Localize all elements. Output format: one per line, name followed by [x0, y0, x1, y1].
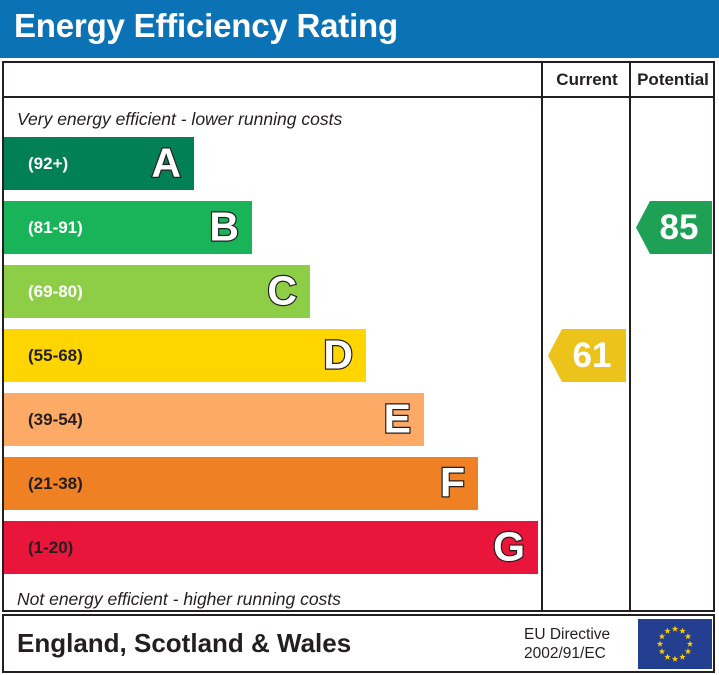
band-range-a: (92+)	[28, 154, 68, 174]
band-range-g: (1-20)	[28, 538, 73, 558]
footer-region-label: England, Scotland & Wales	[17, 628, 351, 659]
band-row-d: (55-68)D	[4, 329, 366, 382]
caption-inefficient: Not energy efficient - higher running co…	[17, 589, 341, 610]
title-bar: Energy Efficiency Rating	[0, 0, 719, 58]
band-letter-e: E	[384, 398, 411, 439]
band-row-b: (81-91)B	[4, 201, 252, 254]
eu-flag-icon	[638, 619, 712, 669]
caption-efficient: Very energy efficient - lower running co…	[17, 109, 342, 130]
band-row-f: (21-38)F	[4, 457, 478, 510]
band-range-d: (55-68)	[28, 346, 83, 366]
band-range-e: (39-54)	[28, 410, 83, 430]
band-letter-g: G	[493, 526, 525, 567]
band-letter-b: B	[209, 206, 239, 247]
divider-potential	[629, 61, 631, 612]
page-title: Energy Efficiency Rating	[14, 7, 398, 45]
column-header-potential: Potential	[631, 61, 715, 98]
band-letter-c: C	[267, 270, 297, 311]
band-range-b: (81-91)	[28, 218, 83, 238]
band-letter-f: F	[440, 462, 465, 503]
band-range-f: (21-38)	[28, 474, 83, 494]
rating-value-potential: 85	[660, 208, 699, 248]
band-row-a: (92+)A	[4, 137, 194, 190]
band-letter-a: A	[151, 142, 181, 183]
band-range-c: (69-80)	[28, 282, 83, 302]
band-row-e: (39-54)E	[4, 393, 424, 446]
energy-efficiency-rating-chart: Energy Efficiency Rating Current Potenti…	[0, 0, 719, 675]
rating-value-current: 61	[573, 336, 612, 376]
band-row-g: (1-20)G	[4, 521, 538, 574]
directive-line-2: 2002/91/EC	[524, 644, 610, 663]
rating-potential: 85	[636, 201, 712, 254]
rating-current: 61	[548, 329, 626, 382]
band-row-c: (69-80)C	[4, 265, 310, 318]
band-letter-d: D	[323, 334, 353, 375]
column-header-current: Current	[543, 61, 631, 98]
directive-line-1: EU Directive	[524, 625, 610, 644]
footer-directive-label: EU Directive 2002/91/EC	[524, 625, 610, 663]
divider-current	[541, 61, 543, 612]
